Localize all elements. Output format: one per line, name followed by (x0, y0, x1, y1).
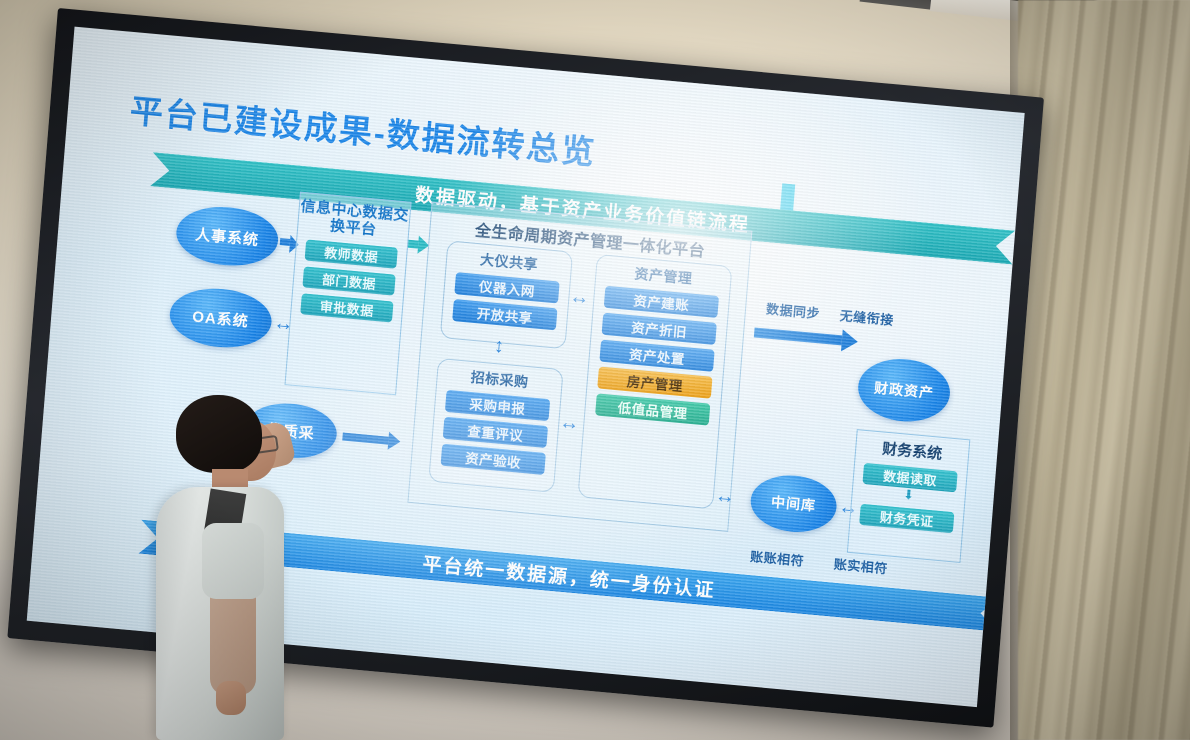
arrow-instrument-to-bid: ↔ (489, 336, 514, 358)
presenter-sleeve (202, 523, 264, 599)
presenter-hand (216, 681, 246, 715)
item-asset-depreciation: 资产折旧 (602, 313, 717, 345)
integrated-platform-box: 全生命周期资产管理一体化平台 大仪共享 仪器入网 开放共享 招标采购 采购申报 … (407, 202, 752, 532)
window-curtain (1018, 0, 1190, 740)
label-physical-match: 账实相符 (833, 554, 888, 578)
chip-approval-data: 审批数据 (300, 293, 393, 322)
node-oa-system: OA系统 (168, 284, 274, 351)
item-asset-acceptance: 资产验收 (441, 444, 546, 475)
node-middle-database: 中间库 (749, 472, 839, 536)
item-open-sharing: 开放共享 (452, 299, 557, 330)
group-bidding-procurement: 招标采购 采购申报 查重评议 资产验收 (428, 358, 563, 493)
item-asset-disposal: 资产处置 (599, 340, 714, 372)
presenter-hair (176, 395, 262, 473)
item-duplicate-review: 查重评议 (443, 417, 548, 448)
group-instrument-sharing: 大仪共享 仪器入网 开放共享 (440, 240, 573, 349)
exchange-platform-box: 信息中心数据交换平台 教师数据 部门数据 审批数据 (284, 192, 411, 396)
label-seamless-link: 无缝衔接 (839, 305, 894, 329)
label-data-sync: 数据同步 (765, 298, 820, 322)
item-purchase-application: 采购申报 (445, 390, 550, 421)
chip-finance-voucher: 财务凭证 (859, 504, 954, 533)
item-low-value-goods: 低值品管理 (595, 393, 710, 425)
finance-system-box: 财务系统 数据读取 ⬇ 财务凭证 (847, 429, 970, 563)
item-asset-booking: 资产建账 (604, 286, 719, 318)
node-hr-system: 人事系统 (174, 203, 280, 270)
arrow-instrument-to-asset: ↔ (569, 286, 591, 311)
chip-teacher-data: 教师数据 (305, 239, 398, 268)
photograph: 平台已建设成果-数据流转总览 数据驱动，基于资产业务价值链流程 人事系统 OA系… (0, 0, 1190, 740)
presenter-person (150, 395, 340, 740)
chip-department-data: 部门数据 (302, 266, 395, 295)
item-property-management: 房产管理 (597, 366, 712, 398)
finance-system-title: 财务系统 (856, 435, 969, 466)
label-account-match: 账账相符 (750, 546, 805, 570)
arrow-platform-to-middle: ↔ (714, 485, 736, 510)
group-asset-management: 资产管理 资产建账 资产折旧 资产处置 房产管理 低值品管理 (577, 254, 732, 510)
arrow-bid-to-asset: ↔ (558, 411, 580, 436)
exchange-platform-title: 信息中心数据交换平台 (298, 199, 410, 242)
node-fiscal-asset: 财政资产 (856, 355, 953, 425)
item-instrument-network: 仪器入网 (454, 272, 559, 303)
